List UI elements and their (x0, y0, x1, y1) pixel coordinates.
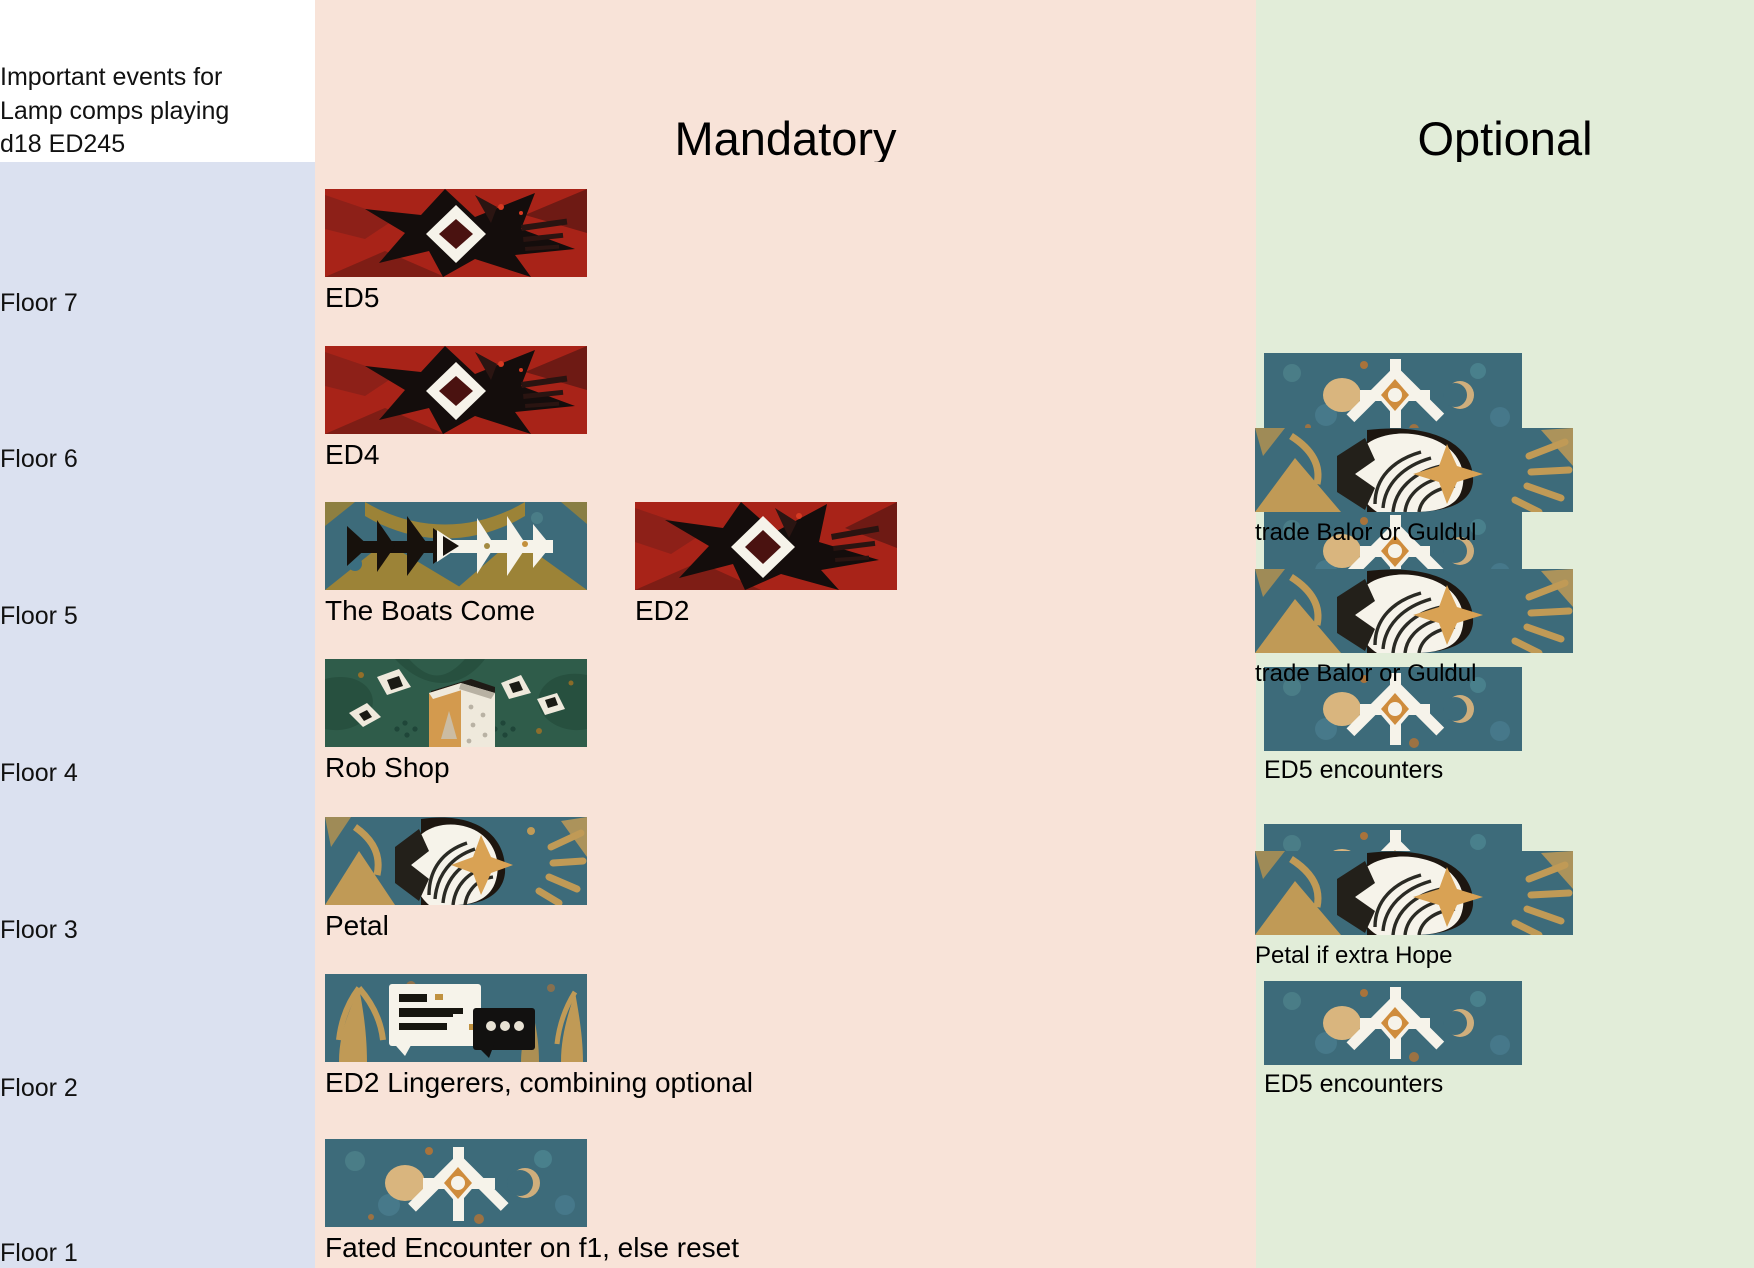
mandatory-caption: The Boats Come (325, 590, 587, 627)
mandatory-cell-floor-7: ED5 (315, 162, 1256, 318)
optional-caption: ED5 encounters (1264, 1065, 1754, 1099)
corner-title-line-3: d18 ED245 (0, 128, 315, 162)
mandatory-item: The Boats Come (325, 474, 587, 626)
boats-come-icon (325, 502, 587, 590)
floor-label-cell-2: Floor 2 (0, 945, 315, 1102)
optional-cell-floor-7 (1256, 162, 1754, 318)
floor-label-cell-5: Floor 5 (0, 474, 315, 630)
mandatory-cell-floor-5: The Boats Come (315, 474, 1256, 630)
column-header-mandatory: Mandatory (315, 0, 1256, 162)
events-table-page: Important events for Lamp comps playing … (0, 0, 1754, 1268)
optional-caption: trade Balor or Guldul (1255, 512, 1575, 546)
mandatory-caption: Rob Shop (325, 747, 1256, 784)
mandatory-caption: Fated Encounter on f1, else reset (325, 1227, 1256, 1264)
fated-encounter-icon (325, 1139, 587, 1227)
optional-extra-floor-5: trade Balor or Guldul (1255, 428, 1575, 546)
mandatory-cell-floor-3: Petal (315, 788, 1256, 945)
petal-fan-icon (1255, 569, 1573, 653)
ed-diamond-icon (635, 502, 897, 590)
petal-fan-icon (1255, 428, 1573, 512)
corner-title-line-2: Lamp comps playing (0, 95, 315, 129)
corner-title-line-1: Important events for (0, 61, 315, 95)
optional-extra-floor-2: Petal if extra Hope (1255, 851, 1575, 969)
floor-label-cell-7: Floor 7 (0, 162, 315, 318)
floor-label-cell-3: Floor 3 (0, 788, 315, 945)
table-row: Floor 7 (0, 162, 1754, 318)
column-header-optional: Optional (1256, 0, 1754, 162)
mandatory-cell-floor-6: ED4 (315, 318, 1256, 474)
mandatory-item: ED2 (635, 474, 897, 626)
mandatory-caption: ED4 (325, 434, 1256, 471)
rob-shop-icon (325, 659, 587, 747)
fated-encounter-icon (1264, 353, 1522, 437)
fated-encounter-icon (1264, 981, 1522, 1065)
optional-extra-floor-4: trade Balor or Guldul (1255, 569, 1575, 687)
optional-caption: Petal if extra Hope (1255, 935, 1575, 969)
table-row: Floor 1 (0, 1103, 1754, 1268)
lingerers-document-icon (325, 974, 587, 1062)
floor-label-cell-1: Floor 1 (0, 1103, 315, 1268)
mandatory-caption: Petal (325, 905, 1256, 942)
mandatory-caption: ED5 (325, 277, 1256, 314)
floor-label-cell-6: Floor 6 (0, 318, 315, 474)
petal-fan-icon (325, 817, 587, 905)
floor-label-cell-4: Floor 4 (0, 631, 315, 788)
mandatory-caption: ED2 (635, 590, 897, 627)
ed-diamond-icon (325, 189, 587, 277)
petal-fan-icon (1255, 851, 1573, 935)
table-header-row: Important events for Lamp comps playing … (0, 0, 1754, 162)
mandatory-caption: ED2 Lingerers, combining optional (325, 1062, 1256, 1099)
optional-caption: trade Balor or Guldul (1255, 653, 1575, 687)
mandatory-cell-floor-2: ED2 Lingerers, combining optional (315, 945, 1256, 1102)
corner-title-cell: Important events for Lamp comps playing … (0, 0, 315, 162)
mandatory-cell-floor-1: Fated Encounter on f1, else reset (315, 1103, 1256, 1268)
optional-cell-floor-1 (1256, 1103, 1754, 1268)
mandatory-cell-floor-4: Rob Shop (315, 631, 1256, 788)
ed-diamond-icon (325, 346, 587, 434)
optional-caption: ED5 encounters (1264, 751, 1754, 785)
